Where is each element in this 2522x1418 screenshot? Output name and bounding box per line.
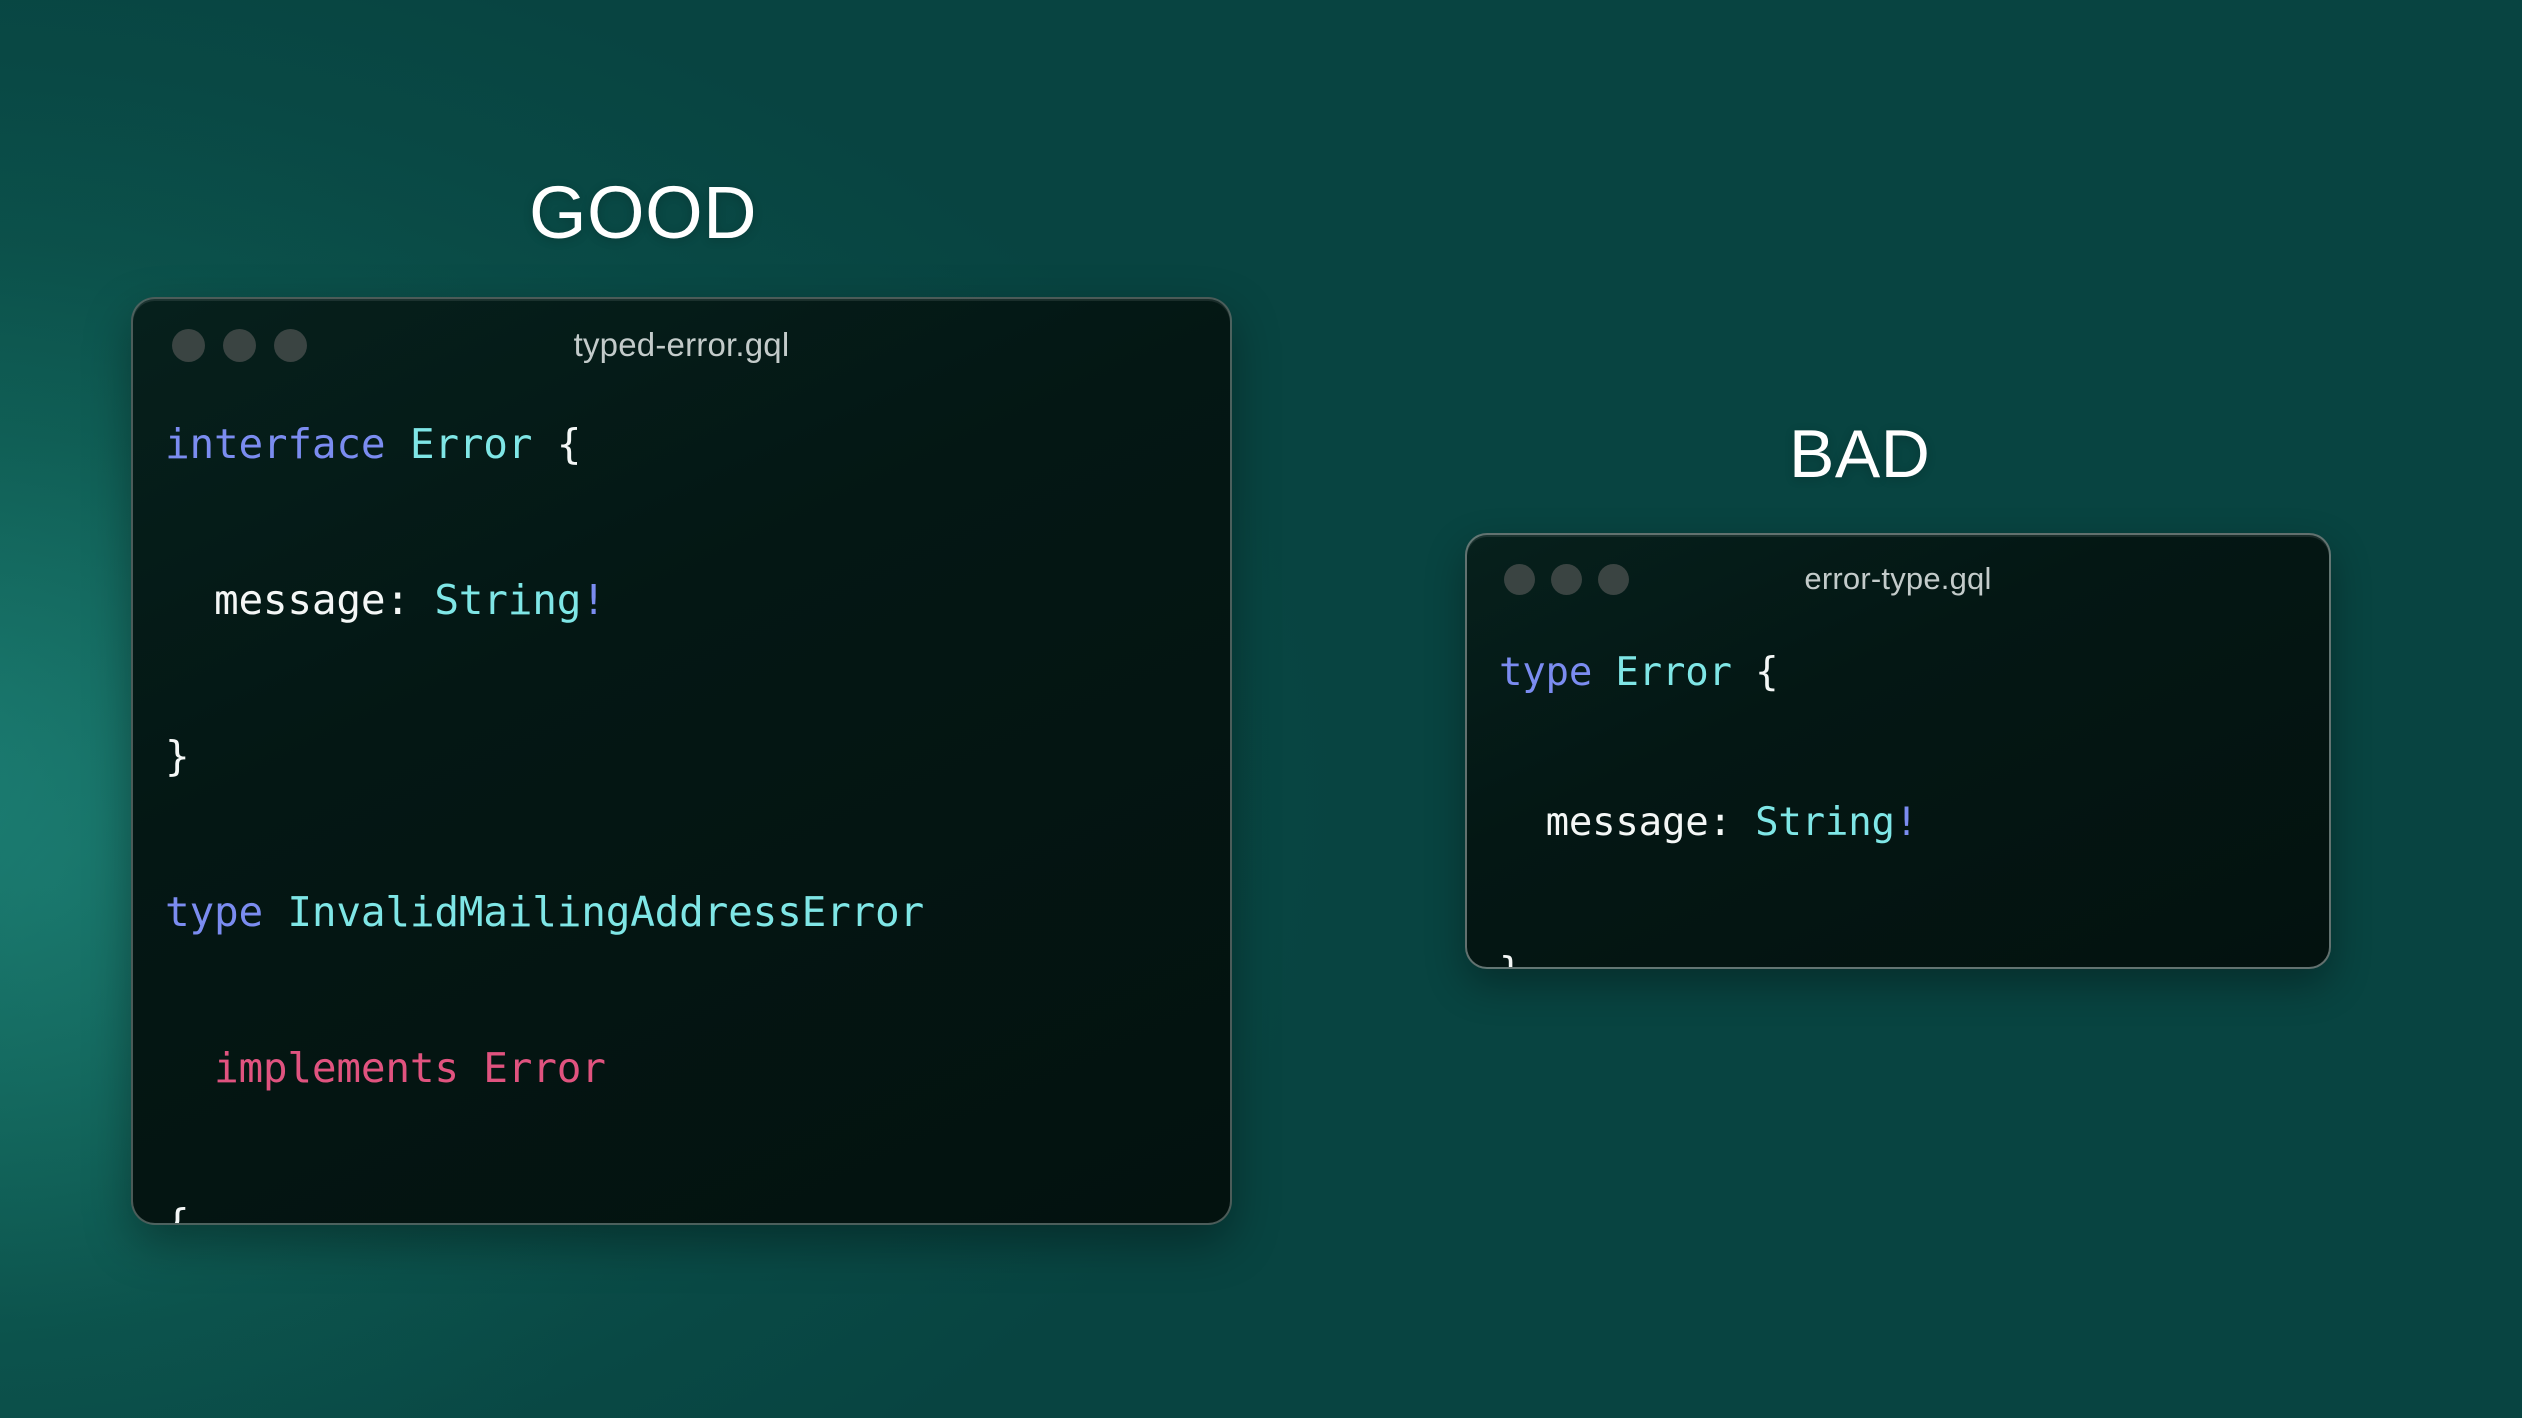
window-dot-minimize-icon[interactable] — [1551, 564, 1582, 595]
code-token-non_null_bang: ! — [581, 576, 605, 624]
window-dot-close-icon[interactable] — [172, 329, 205, 362]
code-token-non_null_bang: ! — [1895, 800, 1918, 845]
code-token-keyword: type — [165, 888, 263, 936]
code-line: implements Error — [165, 1029, 1230, 1107]
code-token-field_white: message — [1546, 800, 1709, 845]
window-dot-zoom-icon[interactable] — [1598, 564, 1629, 595]
code-token-punctuation: : — [1709, 800, 1756, 845]
code-token-space — [1732, 650, 1755, 695]
code-token-space — [532, 420, 556, 468]
code-token-punctuation: { — [557, 420, 581, 468]
code-token-space — [263, 888, 287, 936]
code-token-scalar_cyan: String — [1755, 800, 1895, 845]
code-token-keyword: interface — [165, 420, 385, 468]
code-token-punctuation: { — [165, 1200, 189, 1225]
code-line: interface Error { — [165, 405, 1230, 483]
code-line: type InvalidMailingAddressError — [165, 873, 1230, 951]
code-line: message: String! — [165, 561, 1230, 639]
window-dots-bad — [1504, 564, 1629, 595]
titlebar-bad: error-type.gql — [1467, 535, 2329, 623]
code-token-scalar_cyan: String — [434, 576, 581, 624]
code-token-punctuation: } — [1499, 950, 1522, 969]
titlebar-good: typed-error.gql — [133, 299, 1230, 391]
code-card-good: typed-error.gql interface Error { messag… — [131, 297, 1232, 1225]
comparison-stage: GOOD typed-error.gql interface Error { m… — [0, 0, 2522, 1418]
code-token-punctuation: } — [165, 732, 189, 780]
code-token-field_white: message — [214, 576, 385, 624]
code-token-punctuation: : — [385, 576, 434, 624]
code-token-punctuation: { — [1755, 650, 1778, 695]
window-dot-minimize-icon[interactable] — [223, 329, 256, 362]
code-line: message: String! — [1499, 785, 2329, 860]
code-token-type_name: Error — [410, 420, 532, 468]
code-line: { — [165, 1185, 1230, 1225]
code-line: type Error { — [1499, 635, 2329, 710]
code-token-space — [385, 420, 409, 468]
code-block-good: interface Error { message: String! } typ… — [133, 391, 1230, 1225]
code-token-type_name: Error — [1615, 650, 1731, 695]
heading-good: GOOD — [529, 176, 757, 250]
code-line: } — [165, 717, 1230, 795]
code-token-keyword: type — [1499, 650, 1592, 695]
code-card-bad: error-type.gql type Error { message: Str… — [1465, 533, 2331, 969]
code-line: } — [1499, 935, 2329, 969]
code-block-bad: type Error { message: String! } — [1467, 623, 2329, 969]
code-token-type_name: InvalidMailingAddressError — [287, 888, 924, 936]
code-token-implements: implements Error — [214, 1044, 606, 1092]
window-dots-good — [172, 329, 307, 362]
window-dot-close-icon[interactable] — [1504, 564, 1535, 595]
window-dot-zoom-icon[interactable] — [274, 329, 307, 362]
heading-bad: BAD — [1789, 420, 1930, 488]
code-token-space — [1592, 650, 1615, 695]
